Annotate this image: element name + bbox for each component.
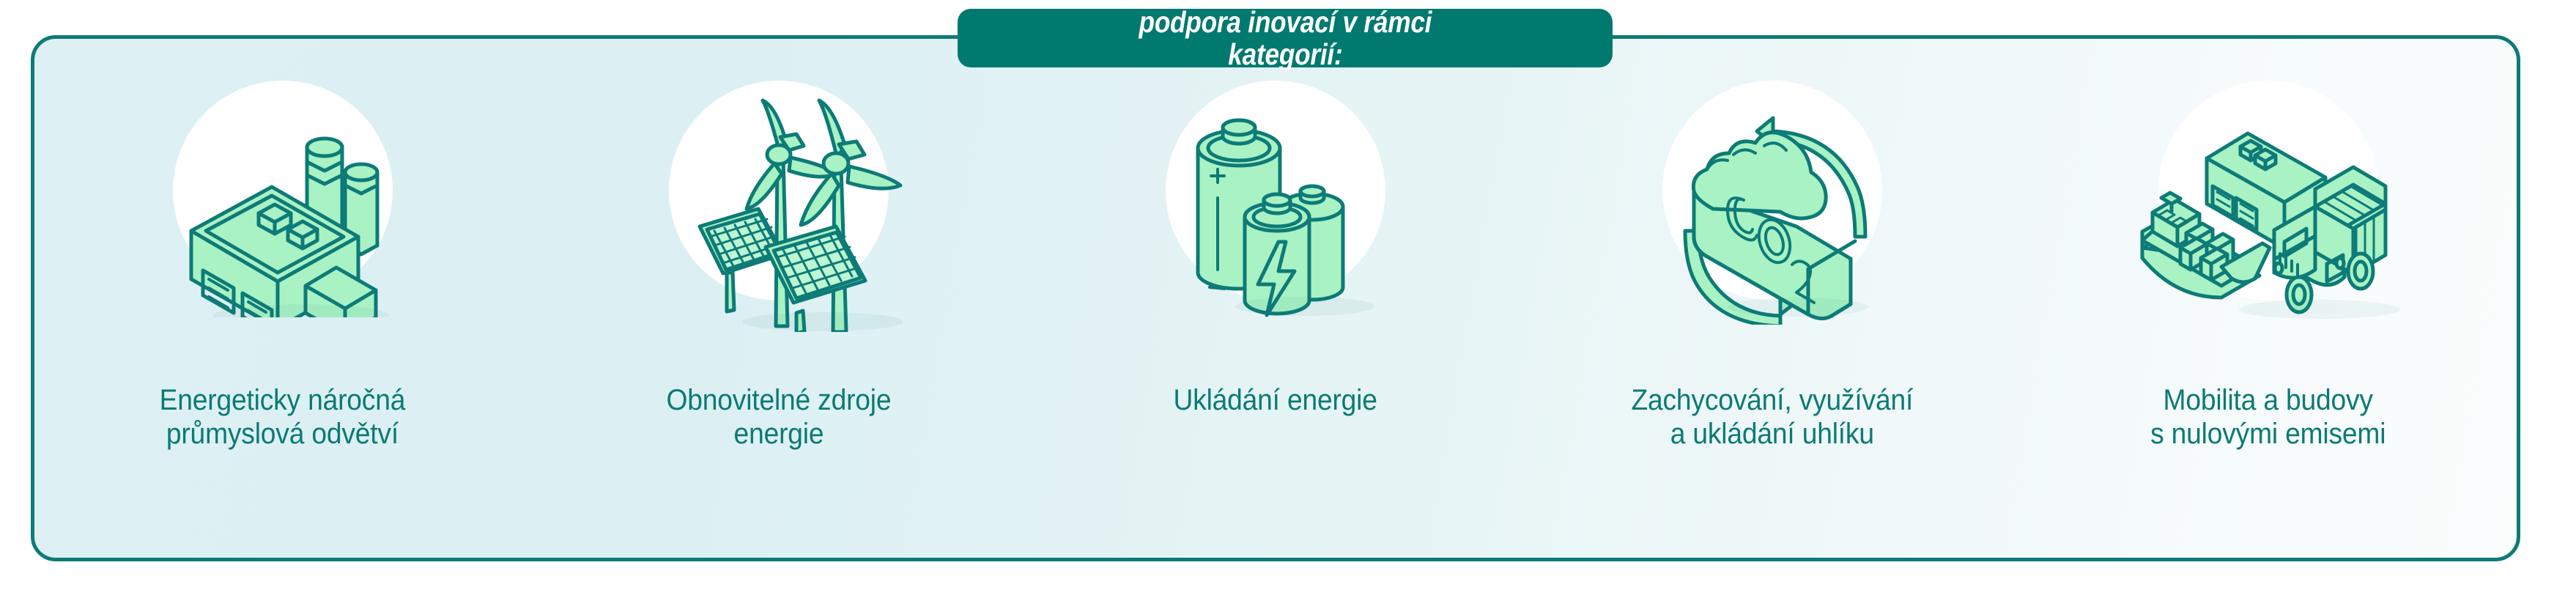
category-label: Ukládání energie — [1168, 383, 1383, 417]
category-item-carbon-capture-use-storage[interactable]: Zachycování, využívání a ukládání uhlíku — [1524, 39, 2021, 558]
category-label: Zachycování, využívání a ukládání uhlíku — [1626, 383, 1919, 451]
icon-container — [2020, 39, 2517, 383]
category-item-zero-emission-mobility-buildings[interactable]: Mobilita a budovy s nulovými emisemi — [2020, 39, 2517, 558]
battery-icon — [1166, 101, 1385, 321]
category-label: Obnovitelné zdroje energie — [662, 383, 897, 451]
category-item-energy-storage[interactable]: Ukládání energie — [1027, 39, 1524, 558]
co2-cloud-icon — [1651, 97, 1893, 325]
icon-container — [1524, 39, 2021, 383]
category-label: Mobilita a budovy s nulovými emisemi — [2145, 383, 2391, 451]
category-item-energy-intensive-industry[interactable]: Energeticky náročná průmyslová odvětví — [34, 39, 531, 558]
icon-container — [1027, 39, 1524, 383]
category-columns: Energeticky náročná průmyslová odvětví — [34, 39, 2517, 558]
header-badge: podpora inovací v rámci kategorií: — [958, 9, 1613, 67]
categories-panel: Energeticky náročná průmyslová odvětví — [31, 35, 2520, 561]
wind-solar-icon — [654, 90, 903, 332]
ship-truck-building-icon — [2136, 101, 2400, 321]
category-item-renewable-energy-sources[interactable]: Obnovitelné zdroje energie — [531, 39, 1028, 558]
category-label: Energeticky náročná průmyslová odvětví — [155, 383, 411, 451]
factory-icon — [162, 105, 404, 317]
header-badge-label: podpora inovací v rámci kategorií: — [1139, 6, 1432, 70]
infographic-root: Energeticky náročná průmyslová odvětví — [0, 0, 2576, 598]
icon-container — [34, 39, 531, 383]
icon-container — [531, 39, 1028, 383]
